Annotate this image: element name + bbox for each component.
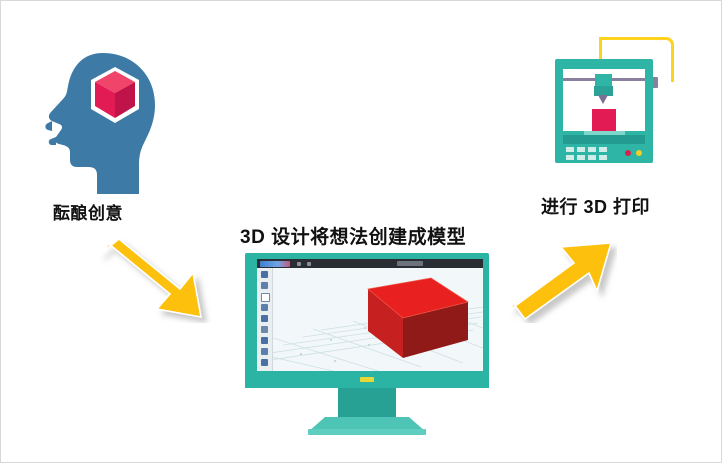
- infographic-canvas: 酝酿创意: [0, 0, 722, 463]
- app-document-title: [397, 261, 423, 266]
- monitor-screen: [257, 259, 483, 371]
- arrow-design-to-print: [507, 227, 617, 323]
- printed-cube-icon: [592, 109, 616, 131]
- panel-button-1[interactable]: [566, 147, 574, 152]
- material-tool-icon[interactable]: [261, 337, 268, 344]
- viewport-canvas: [273, 268, 483, 371]
- app-tool-sidebar[interactable]: [257, 268, 273, 371]
- panel-button-2[interactable]: [577, 147, 585, 152]
- arrow-ideate-to-design: [97, 237, 219, 323]
- panel-button-3[interactable]: [588, 147, 596, 152]
- view-tool-icon[interactable]: [261, 359, 268, 366]
- app-3d-viewport[interactable]: [273, 268, 483, 371]
- head-with-cube-icon: [39, 51, 167, 196]
- panel-button-4[interactable]: [599, 147, 607, 152]
- app-logo-icon: [260, 261, 290, 267]
- status-light-red: [625, 150, 631, 156]
- export-tool-icon[interactable]: [261, 348, 268, 355]
- panel-button-8[interactable]: [599, 155, 607, 160]
- idea-cube-icon: [89, 66, 141, 124]
- status-light-yellow: [636, 150, 642, 156]
- step-label-design: 3D 设计将想法创建成模型: [240, 222, 466, 249]
- step-label-print: 进行 3D 打印: [541, 193, 650, 219]
- redo-icon[interactable]: [307, 262, 311, 266]
- 3d-printer-icon: [537, 37, 689, 177]
- printer-base: [563, 135, 645, 144]
- rectangle-tool-icon[interactable]: [261, 293, 270, 302]
- desktop-monitor-icon: [237, 253, 497, 439]
- power-led: [360, 377, 374, 382]
- panel-button-6[interactable]: [577, 155, 585, 160]
- settings-tool-icon[interactable]: [261, 315, 268, 322]
- edit-tool-icon[interactable]: [261, 304, 268, 311]
- step-label-ideate: 酝酿创意: [53, 199, 123, 224]
- printer-nozzle-tip-icon: [598, 95, 608, 104]
- undo-icon[interactable]: [297, 262, 301, 266]
- monitor-stand: [237, 371, 497, 439]
- pen-tool-icon[interactable]: [261, 282, 268, 289]
- select-tool-icon[interactable]: [261, 271, 268, 278]
- monitor-bezel: [245, 253, 489, 377]
- panel-button-7[interactable]: [588, 155, 596, 160]
- panel-button-5[interactable]: [566, 155, 574, 160]
- printer-carriage-icon: [595, 74, 612, 86]
- effects-tool-icon[interactable]: [261, 326, 268, 333]
- app-topbar: [257, 259, 483, 268]
